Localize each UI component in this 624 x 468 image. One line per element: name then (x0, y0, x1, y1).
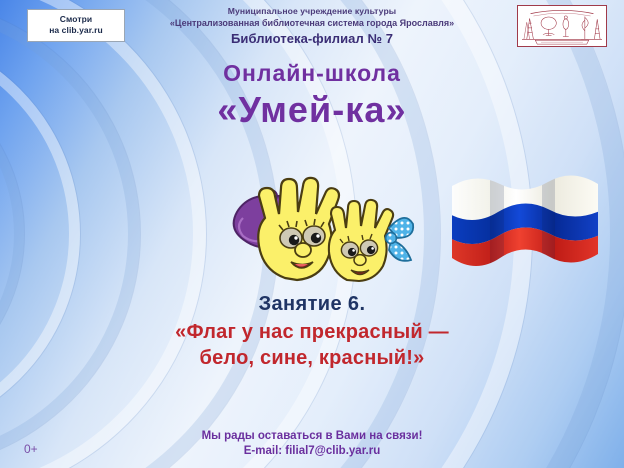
footer-email[interactable]: E-mail: filial7@clib.yar.ru (0, 445, 624, 457)
school-title-line2: «Умей-ка» (0, 89, 624, 131)
russian-flag (446, 168, 606, 280)
age-rating-badge: 0+ (24, 442, 38, 456)
lesson-block: Занятие 6. «Флаг у нас прекрасный — бело… (0, 293, 624, 371)
slide-canvas: Смотри на clib.yar.ru Муниципальное учре… (0, 0, 624, 468)
lesson-title-line2: бело, сине, красный!» (0, 346, 624, 372)
school-title-line1: Онлайн-школа (0, 60, 624, 87)
two-cartoon-hands-mascot (219, 166, 415, 284)
school-title: Онлайн-школа «Умей-ка» (0, 60, 624, 131)
lesson-title-line1: «Флаг у нас прекрасный — (0, 320, 624, 346)
lesson-number: Занятие 6. (0, 293, 624, 316)
footer-message: Мы рады оставаться в Вами на связи! (0, 430, 624, 442)
contact-footer: Мы рады оставаться в Вами на связи! E-ma… (0, 430, 624, 457)
lesson-title: «Флаг у нас прекрасный — бело, сине, кра… (0, 320, 624, 371)
library-emblem (517, 5, 607, 47)
